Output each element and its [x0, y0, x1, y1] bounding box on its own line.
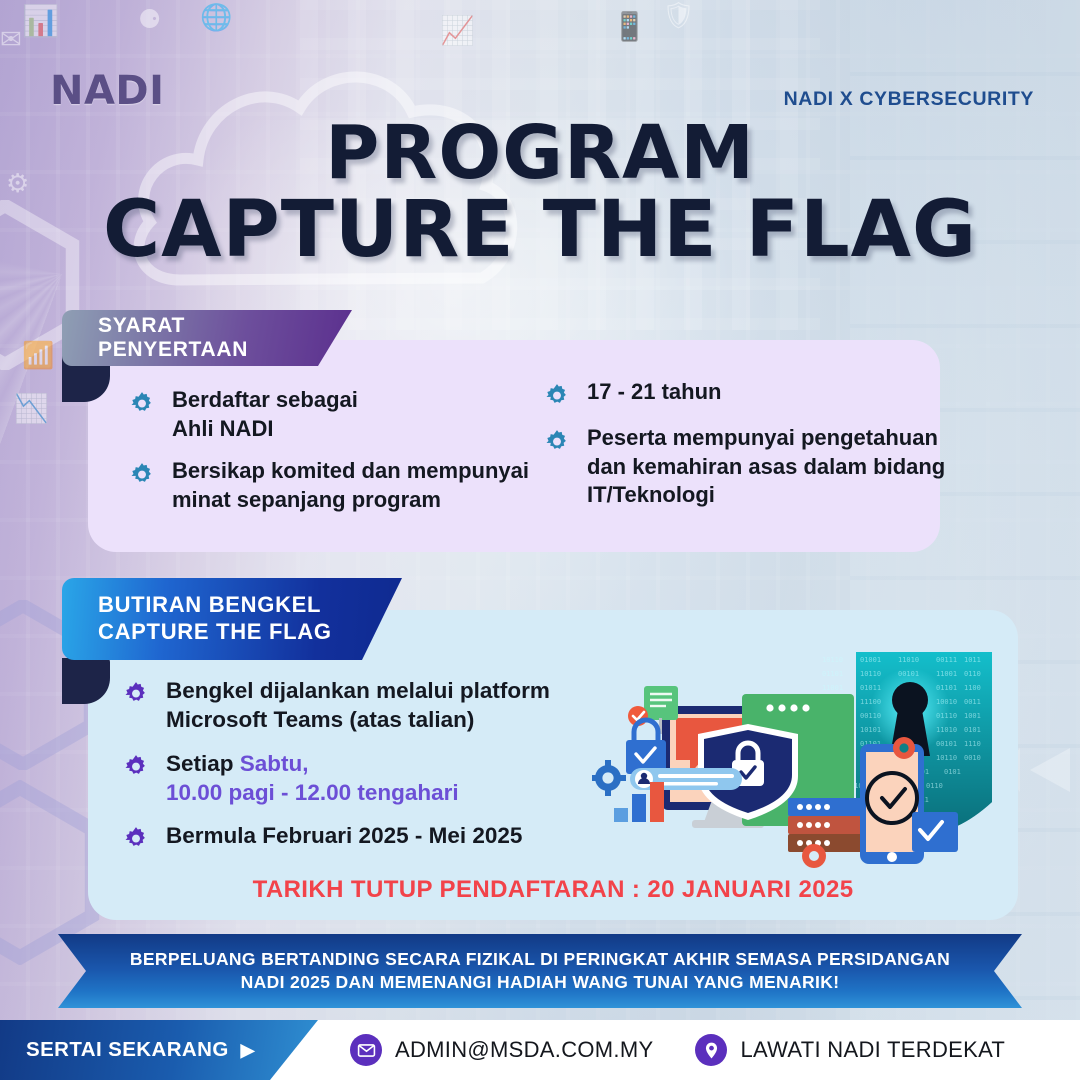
footer-visit-item[interactable]: LAWATI NADI TERDEKAT	[695, 1034, 1005, 1066]
list-item-text: 17 - 21 tahun	[587, 378, 721, 407]
chart-up-icon: 📈	[440, 14, 475, 47]
list-item: Bengkel dijalankan melalui platform Micr…	[122, 676, 592, 735]
requirements-right-list: 17 - 21 tahun Peserta mempunyai pengetah…	[543, 378, 973, 524]
svg-text:0110: 0110	[926, 782, 943, 790]
title-line-1: PROGRAM	[0, 118, 1080, 189]
triangle-left-icon	[1026, 744, 1070, 796]
list-item-prefix: Setiap	[166, 751, 240, 776]
header-tagline: NADI X CYBERSECURITY	[784, 88, 1034, 111]
bottom-ribbon-line-2: NADI 2025 DAN MEMENANGI HADIAH WANG TUNA…	[241, 971, 840, 994]
workshop-banner-label-line2: CAPTURE THE FLAG	[98, 619, 332, 646]
envelope-icon: ✉	[0, 24, 22, 55]
bottom-ribbon-banner: BERPELUANG BERTANDING SECARA FIZIKAL DI …	[58, 934, 1022, 1008]
workshop-list: Bengkel dijalankan melalui platform Micr…	[122, 676, 592, 867]
list-item: Bersikap komited dan mempunyai minat sep…	[128, 457, 548, 514]
location-pin-icon	[695, 1034, 727, 1066]
svg-text:10110: 10110	[822, 656, 843, 664]
requirements-banner-label: SYARAT PENYERTAAN	[98, 314, 312, 362]
list-item-text: Bersikap komited dan mempunyai minat sep…	[172, 457, 529, 514]
requirements-left-list: Berdaftar sebagai Ahli NADI Bersikap kom…	[128, 386, 548, 528]
svg-text:00101: 00101	[936, 740, 957, 748]
svg-text:11010: 11010	[898, 656, 919, 664]
title-line-2: CAPTURE THE FLAG	[0, 193, 1080, 268]
svg-text:1100: 1100	[964, 684, 981, 692]
footer-email-label: ADMIN@MSDA.COM.MY	[395, 1037, 653, 1063]
bar-chart-icon: 📊	[22, 4, 59, 39]
footer-email-item[interactable]: ADMIN@MSDA.COM.MY	[350, 1034, 653, 1066]
check-badge-bottom-right	[912, 812, 958, 852]
list-item-text: Setiap Sabtu, 10.00 pagi - 12.00 tengaha…	[166, 749, 459, 808]
svg-text:0011: 0011	[964, 698, 981, 706]
mobile-icon: 📱	[612, 10, 647, 43]
list-item: 17 - 21 tahun	[543, 378, 973, 410]
requirements-banner: SYARAT PENYERTAAN	[62, 310, 352, 366]
svg-text:1011: 1011	[964, 656, 981, 664]
join-now-button[interactable]: SERTAI SEKARANG ▶	[0, 1020, 318, 1080]
gear-icon	[543, 382, 571, 410]
svg-text:0101: 0101	[964, 726, 981, 734]
gear-icon	[128, 461, 156, 489]
list-item: Setiap Sabtu, 10.00 pagi - 12.00 tengaha…	[122, 749, 592, 808]
svg-text:00111: 00111	[936, 656, 957, 664]
svg-text:0101: 0101	[944, 768, 961, 776]
list-item-text: Bermula Februari 2025 - Mei 2025	[166, 821, 522, 850]
list-item: Berdaftar sebagai Ahli NADI	[128, 386, 548, 443]
registration-deadline: TARIKH TUTUP PENDAFTARAN : 20 JANUARI 20…	[88, 876, 1018, 904]
cybersecurity-illustration: 101100100111010001111011 011011011000101…	[592, 652, 992, 874]
gear-orange-icon	[893, 737, 915, 759]
gear-icon	[122, 680, 150, 708]
svg-text:1001: 1001	[964, 712, 981, 720]
arrow-right-icon: ▶	[241, 1041, 255, 1059]
gear-icon	[122, 753, 150, 781]
nadi-logo: NADI	[50, 68, 165, 114]
workshop-banner-label-line1: BUTIRAN BENGKEL	[98, 592, 321, 619]
list-item: Peserta mempunyai pengetahuan dan kemahi…	[543, 424, 973, 510]
list-item: Bermula Februari 2025 - Mei 2025	[122, 821, 592, 853]
line-chart-icon: 📉	[14, 392, 49, 425]
list-item-text: Peserta mempunyai pengetahuan dan kemahi…	[587, 424, 945, 510]
poster-root: 📊 ✉ ⚈ 🌐 📈 📱 🛡 📶 📉 ⚙ NADI NADI X CYBERSEC…	[0, 0, 1080, 1080]
page-title: PROGRAM CAPTURE THE FLAG	[0, 118, 1080, 268]
svg-text:1110: 1110	[964, 740, 981, 748]
wifi-icon: 📶	[22, 340, 54, 371]
list-item-text: Bengkel dijalankan melalui platform Micr…	[166, 676, 550, 735]
svg-text:11001: 11001	[936, 670, 957, 678]
join-now-label: SERTAI SEKARANG	[26, 1038, 229, 1062]
svg-text:0010: 0010	[964, 754, 981, 762]
svg-text:0110: 0110	[964, 670, 981, 678]
gear-icon	[128, 390, 156, 418]
bottom-ribbon-line-1: BERPELUANG BERTANDING SECARA FIZIKAL DI …	[130, 948, 950, 971]
user-login-bar	[630, 768, 742, 790]
coins-icon: ⚈	[138, 4, 161, 35]
svg-text:10110: 10110	[860, 670, 881, 678]
globe-icon: 🌐	[200, 2, 232, 33]
gear-icon	[543, 428, 571, 456]
footer-visit-label: LAWATI NADI TERDEKAT	[740, 1037, 1005, 1063]
svg-text:01001: 01001	[860, 656, 881, 664]
gear-icon	[122, 825, 150, 853]
svg-text:11001: 11001	[822, 684, 843, 692]
footer-bar: SERTAI SEKARANG ▶ ADMIN@MSDA.COM.MY LAWA…	[0, 1020, 1080, 1080]
envelope-icon	[350, 1034, 382, 1066]
svg-text:01101: 01101	[822, 670, 843, 678]
svg-text:10110: 10110	[936, 754, 957, 762]
workshop-banner: BUTIRAN BENGKEL CAPTURE THE FLAG	[62, 578, 402, 660]
shield-check-icon: 🛡	[662, 0, 695, 31]
list-item-text: Berdaftar sebagai Ahli NADI	[172, 386, 358, 443]
gear-illustration-icon	[592, 760, 626, 796]
padlock-check-badge-left	[626, 720, 666, 774]
